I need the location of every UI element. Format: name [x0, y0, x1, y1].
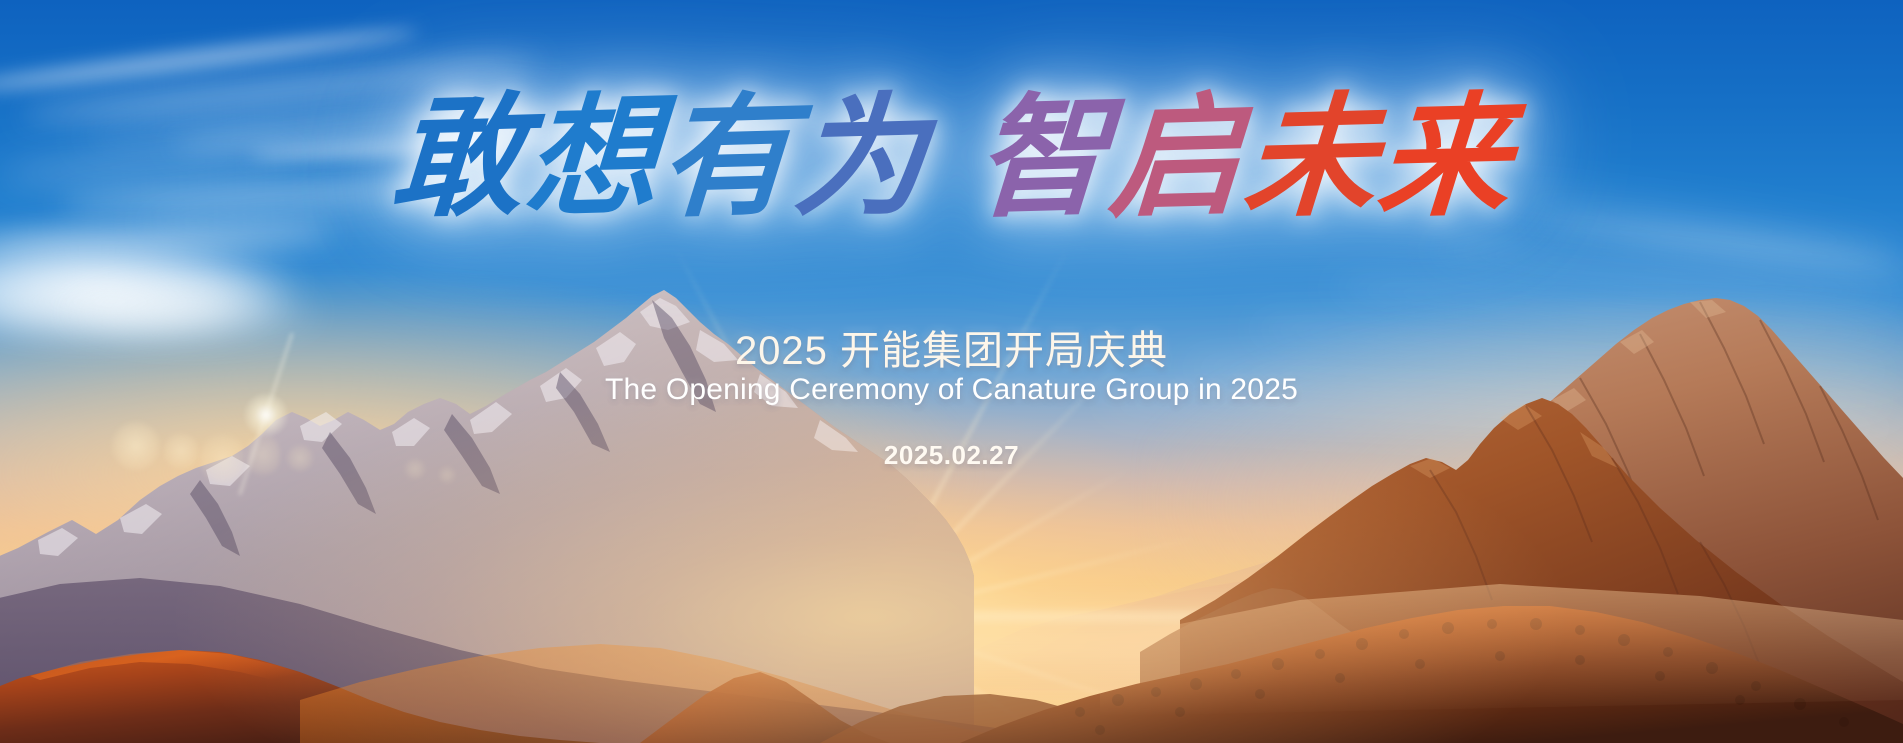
lens-flare-bokeh	[404, 458, 426, 480]
lens-flare-bokeh	[438, 466, 456, 484]
lens-flare-bokeh	[162, 432, 200, 470]
lens-flare-bokeh	[286, 444, 314, 472]
right-mountains-layer	[0, 0, 1903, 743]
lens-flare-bokeh	[200, 430, 246, 488]
lens-flare-bokeh	[110, 420, 162, 472]
event-banner: 敢想有为智启未来 2025 开能集团开局庆典 The Opening Cerem…	[0, 0, 1903, 743]
